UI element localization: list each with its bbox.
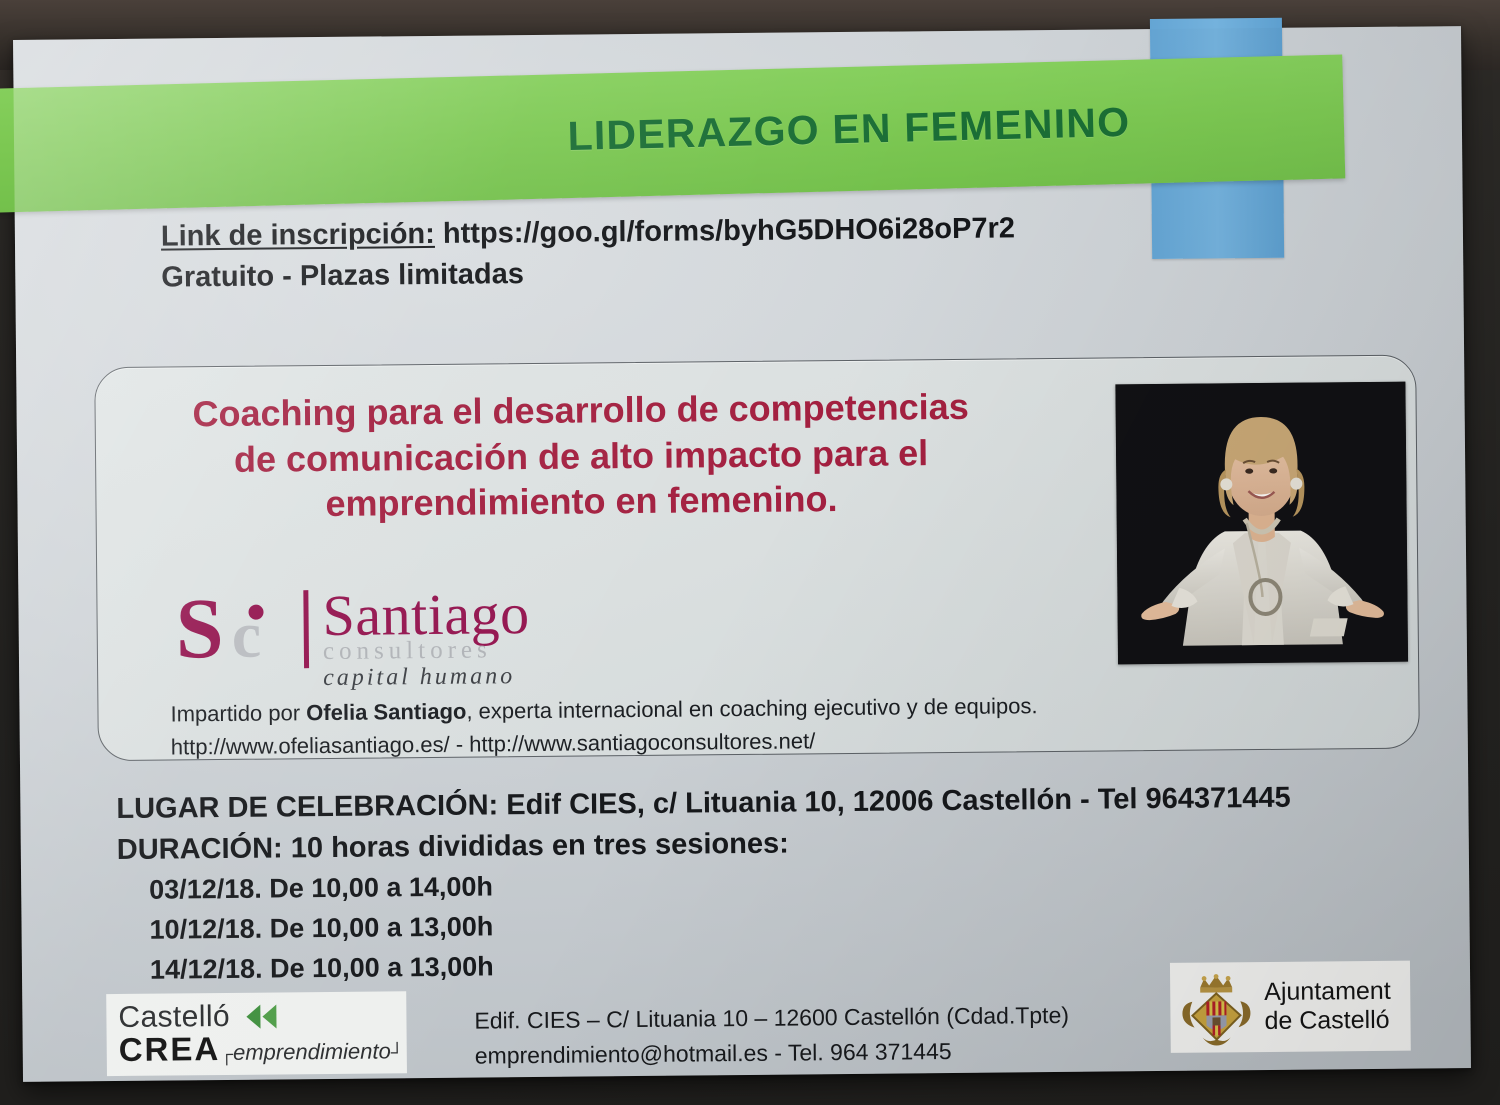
- footer-address-line-1: Edif. CIES – C/ Lituania 10 – 12600 Cast…: [474, 998, 1069, 1038]
- crea-castello-text: Castelló: [118, 1001, 230, 1032]
- paper-sheet: LIDERAZGO EN FEMENINO Link de inscripció…: [13, 26, 1471, 1082]
- green-banner: LIDERAZGO EN FEMENINO: [0, 54, 1345, 213]
- ajuntament-line-2: de Castelló: [1264, 1006, 1389, 1035]
- ajuntament-line-1: Ajuntament: [1264, 977, 1391, 1006]
- santiago-consultores-logo: S c Santiago consultores capital humano: [175, 586, 530, 691]
- crea-top-row: Castelló: [118, 1000, 396, 1033]
- presenter-name: Ofelia Santiago: [306, 699, 466, 726]
- footer-address: Edif. CIES – C/ Lituania 10 – 12600 Cast…: [474, 998, 1069, 1073]
- speaker-portrait-illustration: [1115, 382, 1408, 665]
- crea-emprendimiento: emprendimiento: [233, 1040, 391, 1064]
- photo-of-printed-poster: LIDERAZGO EN FEMENINO Link de inscripció…: [0, 0, 1500, 1105]
- registration-label: Link de inscripción:: [161, 218, 435, 253]
- registration-url: https://goo.gl/forms/byhG5DHO6i28oP7r2: [435, 212, 1015, 250]
- ajuntament-logo: Ajuntament de Castelló: [1170, 961, 1411, 1053]
- poster-content: LIDERAZGO EN FEMENINO Link de inscripció…: [13, 26, 1471, 1082]
- crea-bracket-close: ┘: [391, 1042, 404, 1063]
- ajuntament-text: Ajuntament de Castelló: [1264, 977, 1391, 1036]
- banner-title: LIDERAZGO EN FEMENINO: [567, 98, 1131, 159]
- crea-bracket-open: ┌: [220, 1043, 233, 1064]
- presenter-prefix: Impartido por: [170, 700, 306, 726]
- course-headline: Coaching para el desarrollo de competenc…: [175, 384, 986, 529]
- logo-wordmark: Santiago consultores capital humano: [322, 586, 530, 690]
- course-card: Coaching para el desarrollo de competenc…: [94, 355, 1420, 762]
- footer-address-line-2: emprendimiento@hotmail.es - Tel. 964 371…: [475, 1032, 1070, 1072]
- coat-of-arms-icon: [1178, 967, 1255, 1048]
- logo-dot-icon: [248, 605, 263, 620]
- crea-word: CREA: [119, 1032, 221, 1066]
- logo-letter-s: S: [175, 585, 224, 671]
- castello-crea-logo: Castelló CREA ┌ emprendimiento ┘: [106, 991, 407, 1076]
- presenter-paragraph: Impartido por Ofelia Santiago, experta i…: [170, 689, 1071, 765]
- registration-block: Link de inscripción: https://goo.gl/form…: [161, 207, 1162, 299]
- sc-monogram: S c: [175, 588, 298, 673]
- logo-name: Santiago: [322, 586, 530, 643]
- registration-price-line: Gratuito - Plazas limitadas: [161, 248, 1161, 299]
- crea-bottom-row: CREA ┌ emprendimiento ┘: [119, 1030, 397, 1066]
- double-chevron-left-icon: [240, 1003, 282, 1029]
- logo-divider-bar: [303, 590, 309, 668]
- logo-tagline-2: capital humano: [323, 664, 530, 690]
- speaker-photo: [1115, 382, 1408, 665]
- event-details: LUGAR DE CELEBRACIÓN: Edif CIES, c/ Litu…: [116, 777, 1418, 991]
